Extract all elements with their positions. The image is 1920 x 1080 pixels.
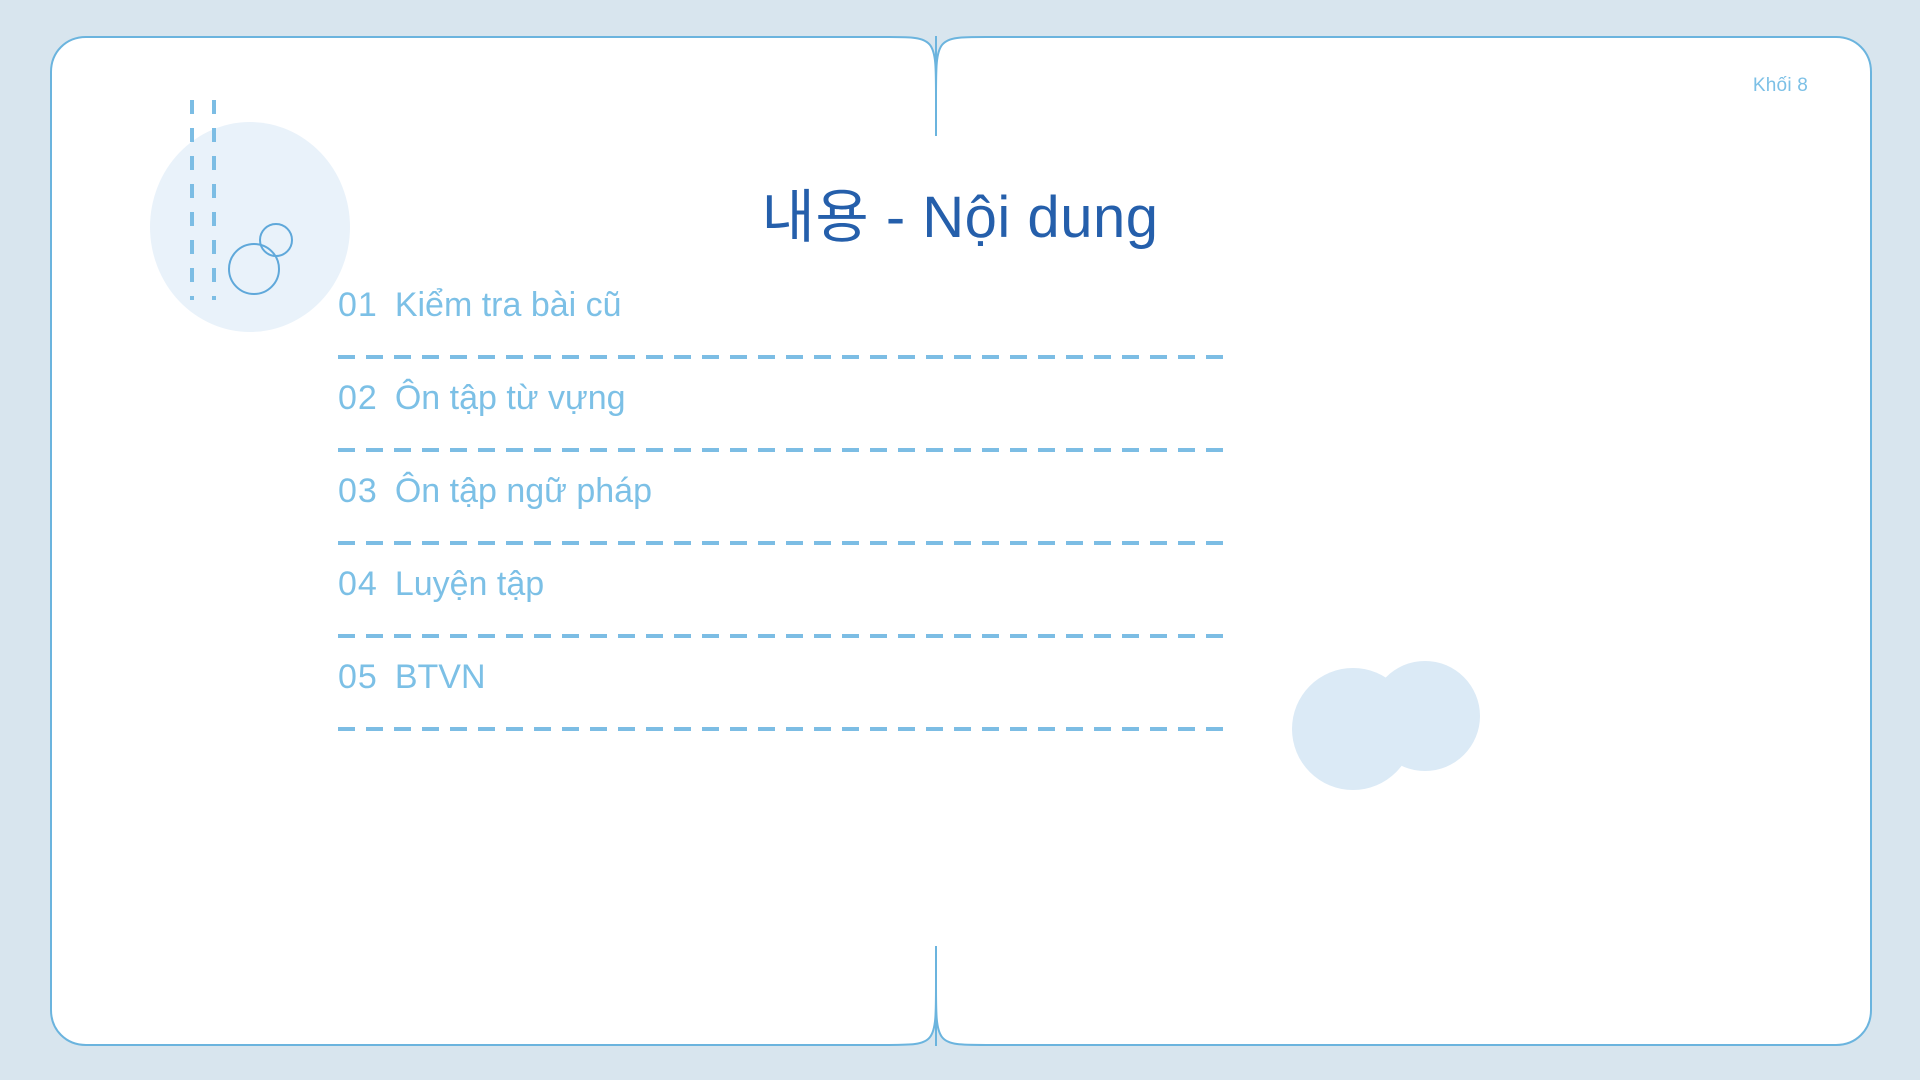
list-item-number: 01: [338, 288, 378, 322]
list-item-divider: [338, 355, 1228, 359]
list-item[interactable]: 02 Ôn tập từ vựng: [338, 381, 1228, 474]
list-item-number: 03: [338, 474, 378, 508]
list-item-label: BTVN: [395, 660, 486, 694]
list-item-number: 05: [338, 660, 378, 694]
agenda-list: 01 Kiểm tra bài cũ 02 Ôn tập từ vựng 03 …: [338, 288, 1228, 753]
list-item-number: 02: [338, 381, 378, 415]
list-item-divider: [338, 634, 1228, 638]
list-item[interactable]: 01 Kiểm tra bài cũ: [338, 288, 1228, 381]
slide-canvas: Khối 8 내용 - Nội dung 01 Kiểm tra bài cũ …: [0, 0, 1920, 1080]
list-item-divider: [338, 541, 1228, 545]
list-item-divider: [338, 727, 1228, 731]
list-item-label: Luyện tập: [395, 567, 544, 601]
list-item[interactable]: 03 Ôn tập ngữ pháp: [338, 474, 1228, 567]
page-title: 내용 - Nội dung: [0, 170, 1920, 254]
list-item-number: 04: [338, 567, 378, 601]
list-item-label: Kiểm tra bài cũ: [395, 288, 622, 322]
list-item-divider: [338, 448, 1228, 452]
list-item-label: Ôn tập từ vựng: [395, 381, 626, 415]
list-item-label: Ôn tập ngữ pháp: [395, 474, 652, 508]
grade-badge: Khối 8: [1753, 75, 1808, 97]
list-item[interactable]: 05 BTVN: [338, 660, 1228, 753]
list-item[interactable]: 04 Luyện tập: [338, 567, 1228, 660]
